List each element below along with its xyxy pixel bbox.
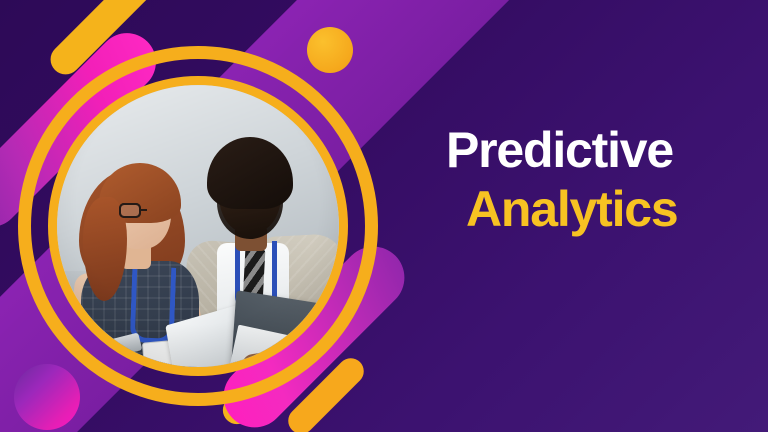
magenta-dot-bottom — [14, 364, 80, 430]
title-line-analytics: Analytics — [466, 185, 746, 234]
circular-photo-frame — [48, 76, 348, 376]
banner-slide: Predictive Analytics — [0, 0, 768, 432]
photo-vignette — [57, 85, 339, 367]
page-title: Predictive Analytics — [446, 126, 746, 233]
yellow-dot-top — [307, 27, 353, 73]
photo-image — [57, 85, 339, 367]
title-line-predictive: Predictive — [446, 126, 746, 175]
